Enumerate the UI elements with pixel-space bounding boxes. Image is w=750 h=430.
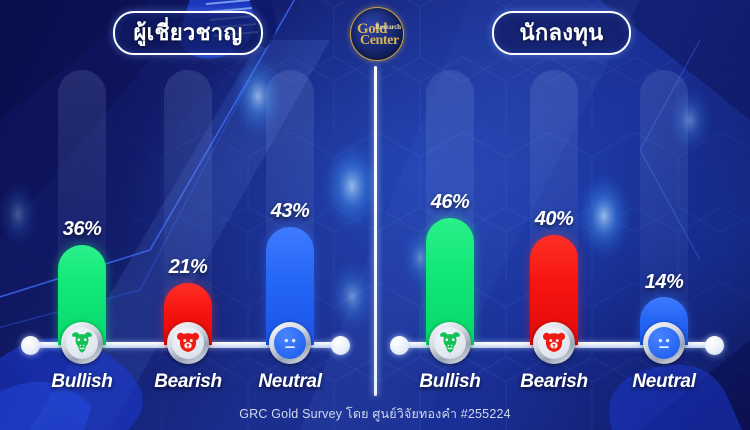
axis-end-dot [21, 336, 40, 355]
bull-icon [429, 322, 471, 364]
axis-end-dot [390, 336, 409, 355]
bar-label-bearish: Bearish [499, 372, 609, 391]
panel-title-investors-label: นักลงทุน [520, 22, 604, 44]
bar-label-bullish: Bullish [27, 372, 137, 391]
neutral-face-icon [269, 322, 311, 364]
bear-icon [167, 322, 209, 364]
bar-value-bullish: 36% [37, 219, 127, 239]
logo-circle: Gold Research Center [350, 7, 404, 61]
logo-word-center: Center [360, 34, 399, 48]
bar-label-bullish: Bullish [395, 372, 505, 391]
bar-value-neutral: 14% [619, 272, 709, 292]
panel-title-experts-label: ผู้เชี่ยวชาญ [133, 22, 242, 44]
panel-divider [374, 66, 377, 396]
bar-value-bearish: 40% [509, 209, 599, 229]
infographic-canvas: ผู้เชี่ยวชาญ นักลงทุน Gold Research Cent… [0, 0, 750, 430]
axis-end-dot [331, 336, 350, 355]
bull-icon [61, 322, 103, 364]
gold-research-center-logo: Gold Research Center [340, 7, 410, 69]
panel-investors: 46% Bullish [377, 0, 750, 430]
bar-label-neutral: Neutral [235, 372, 345, 391]
bar-value-bearish: 21% [143, 257, 233, 277]
panel-title-investors: นักลงทุน [492, 11, 631, 55]
bar-label-neutral: Neutral [609, 372, 719, 391]
panel-title-experts: ผู้เชี่ยวชาญ [113, 11, 263, 55]
bear-icon [533, 322, 575, 364]
footer-caption: GRC Gold Survey โดย ศูนย์วิจัยทองคำ #255… [0, 404, 750, 424]
axis-end-dot [705, 336, 724, 355]
panel-experts: 36% Bullish [0, 0, 374, 430]
bar-value-neutral: 43% [245, 201, 335, 221]
neutral-face-icon [643, 322, 685, 364]
bar-label-bearish: Bearish [133, 372, 243, 391]
logo-word-research: Research [375, 24, 401, 31]
bar-value-bullish: 46% [405, 192, 495, 212]
